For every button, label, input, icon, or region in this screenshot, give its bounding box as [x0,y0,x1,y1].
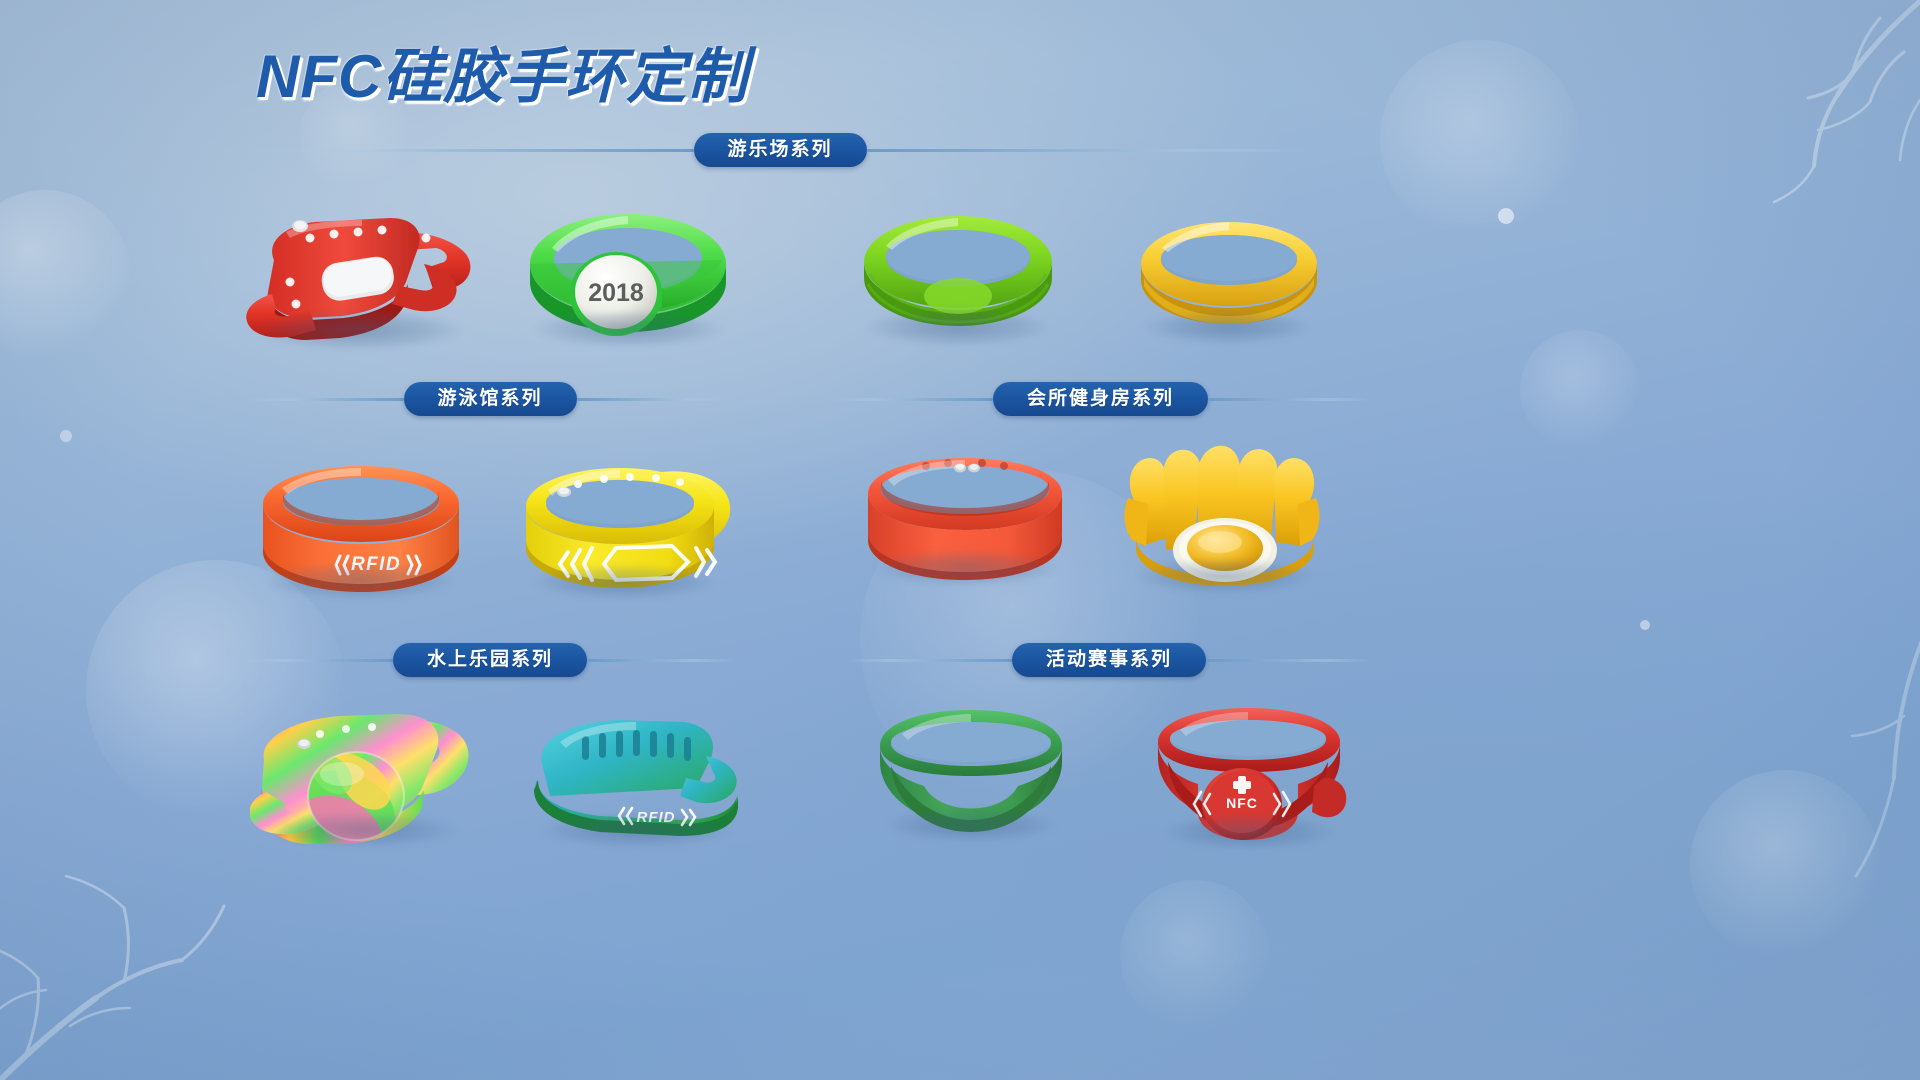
divider-line-left [845,659,1012,662]
product-teal-green-wristband-rfid[interactable]: RFID [520,708,754,848]
section-header-swimming-pool: 游泳馆系列 [245,382,735,416]
product-yellow-strap-wristband-nfc-emblem[interactable] [512,452,738,600]
divider-line-right [577,398,736,401]
product-shadow [1164,814,1336,850]
section-header-water-park: 水上乐园系列 [245,643,735,677]
section-badge-amusement-park[interactable]: 游乐场系列 [694,133,867,167]
divider-line-left [245,398,404,401]
product-dark-green-oval-wristband[interactable] [868,700,1074,842]
page-title: NFC硅胶手环定制 [256,28,748,115]
divider-line-right [1206,659,1373,662]
divider-line-left [828,398,993,401]
product-shadow [534,310,724,348]
product-shadow [886,808,1056,842]
product-shadow [866,308,1050,346]
product-lime-green-ring-wristband[interactable] [848,200,1068,346]
product-shadow [872,550,1058,586]
divider-line-right [1208,398,1373,401]
svg-text:2018: 2018 [588,279,644,307]
section-badge-events-competitions[interactable]: 活动赛事系列 [1012,643,1206,677]
product-shadow [256,310,464,350]
divider-line-left [245,149,694,152]
product-shadow [532,564,716,600]
product-shadow [1136,558,1312,594]
section-badge-water-park[interactable]: 水上乐园系列 [393,643,587,677]
divider-line-right [587,659,735,662]
product-shadow [266,562,456,600]
product-shadow [268,812,458,848]
section-header-club-gym: 会所健身房系列 [828,382,1373,416]
product-red-wristband-nfc-medical-emblem[interactable]: NFC [1148,700,1352,850]
divider-line-right [867,149,1316,152]
section-badge-swimming-pool[interactable]: 游泳馆系列 [404,382,577,416]
product-shadow [1144,310,1312,344]
section-badge-club-gym[interactable]: 会所健身房系列 [993,382,1208,416]
product-orange-oval-snap-wristband[interactable] [856,446,1074,586]
product-green-ring-wristband-2018[interactable]: 2018 [512,198,744,348]
product-tie-dye-rainbow-wristband[interactable] [250,700,476,848]
section-header-amusement-park: 游乐场系列 [245,133,1315,167]
product-shadow [540,812,732,848]
product-red-adjustable-strap-wristband[interactable] [238,198,484,348]
product-yellow-ring-wristband[interactable] [1128,206,1330,346]
product-orange-ring-wristband-rfid[interactable]: RFID [248,452,474,600]
divider-line-left [245,659,393,662]
product-yellow-wavy-wristband-amber-disc[interactable] [1120,442,1330,594]
svg-text:NFC: NFC [1226,795,1258,811]
section-header-events-competitions: 活动赛事系列 [845,643,1373,677]
